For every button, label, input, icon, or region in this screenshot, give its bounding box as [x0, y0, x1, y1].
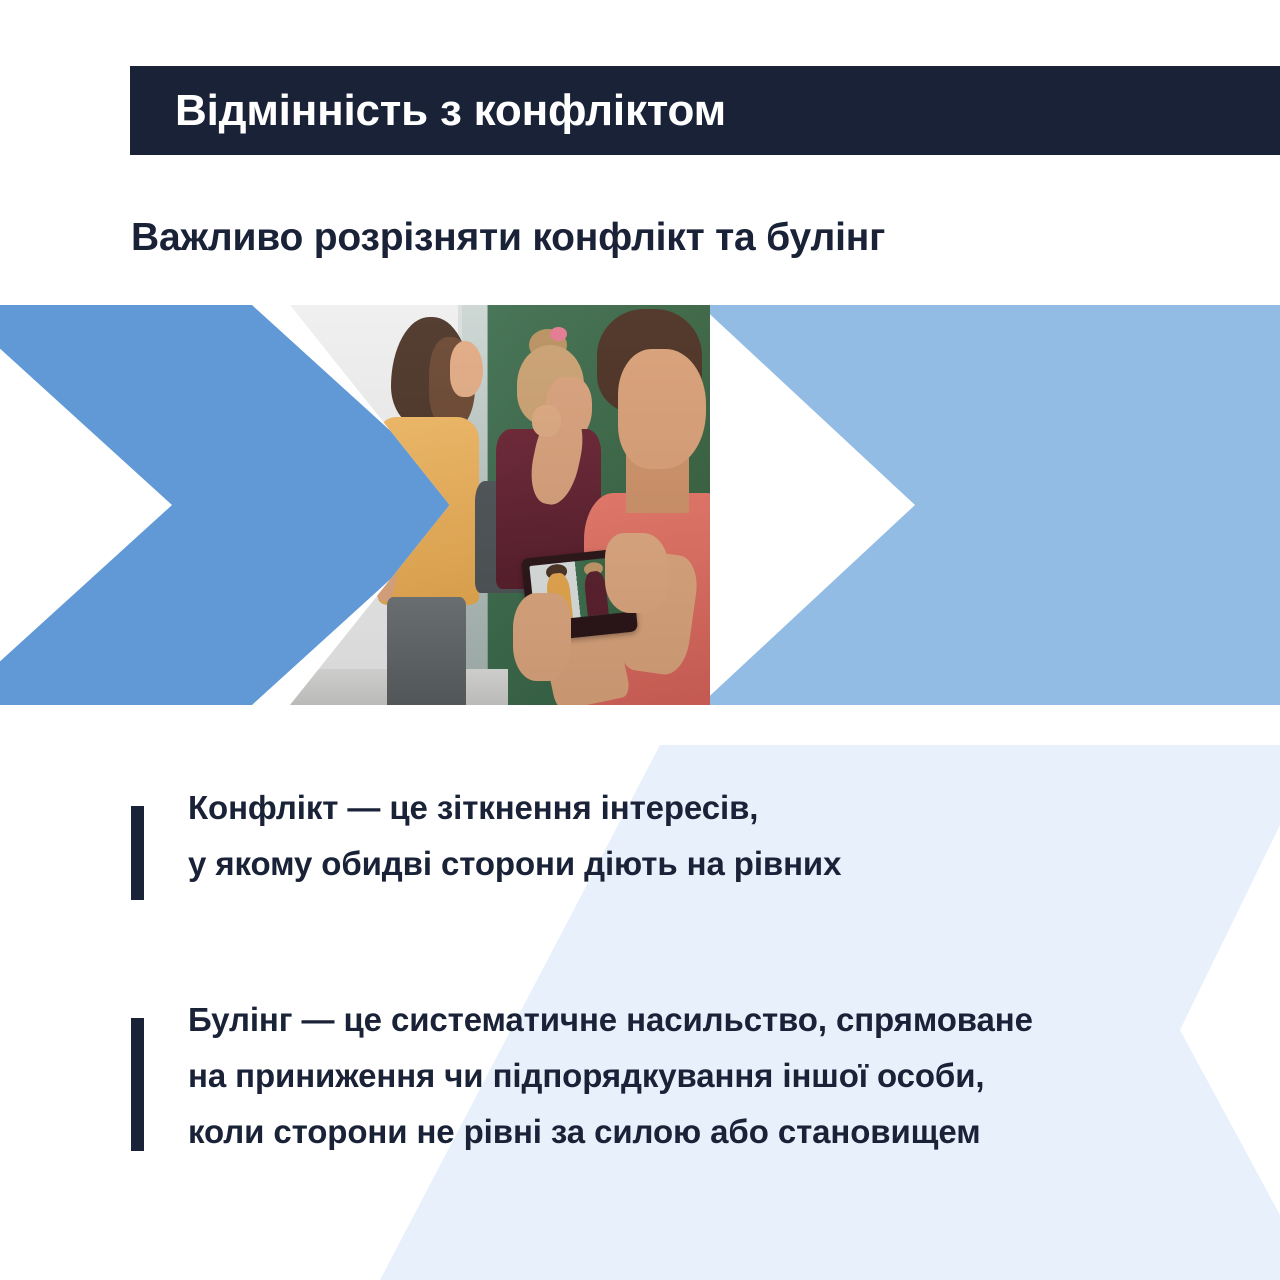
bullying-line-1: Булінг — це систематичне насильство, спр…: [188, 992, 1033, 1048]
bullying-line-2: на приниження чи підпорядкування іншої о…: [188, 1048, 1033, 1104]
infographic-slide: Відмінність з конфліктом Важливо розрізн…: [0, 0, 1280, 1280]
page-title: Відмінність з конфліктом: [130, 89, 726, 133]
bullying-definition-text: Булінг — це систематичне насильство, спр…: [188, 992, 1033, 1160]
accent-bar: [131, 1018, 144, 1151]
conflict-line-1: Конфлікт — це зіткнення інтересів,: [188, 780, 841, 836]
list-item: Конфлікт — це зіткнення інтересів, у яко…: [0, 780, 1280, 900]
conflict-line-2: у якому обидві сторони діють на рівних: [188, 836, 841, 892]
list-item: Булінг — це систематичне насильство, спр…: [0, 992, 1280, 1160]
hero-banner: [0, 305, 1280, 705]
accent-bar: [131, 806, 144, 900]
bullying-line-3: коли сторони не рівні за силою або стано…: [188, 1104, 1033, 1160]
chevron-right-icon: [700, 305, 1280, 705]
definitions-list: Конфлікт — це зіткнення інтересів, у яко…: [0, 780, 1280, 1160]
header-bar: Відмінність з конфліктом: [130, 66, 1280, 155]
subtitle: Важливо розрізняти конфлікт та булінг: [131, 216, 885, 260]
conflict-definition-text: Конфлікт — це зіткнення інтересів, у яко…: [188, 780, 841, 892]
